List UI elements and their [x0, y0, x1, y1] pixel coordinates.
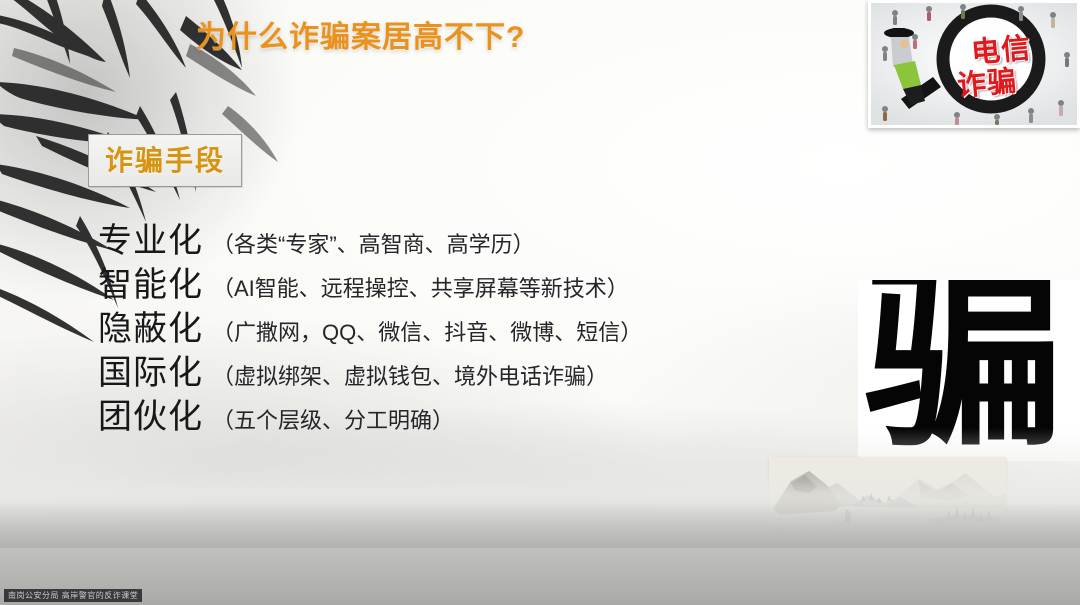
bullet-head: 团伙化: [98, 398, 203, 436]
ink-landscape-painting: [769, 457, 1006, 542]
list-item: 专业化 （各类“专家”、高智商、高学历）: [98, 222, 642, 260]
slide-title: 为什么诈骗案居高不下?: [196, 12, 525, 56]
bullet-head: 隐蔽化: [98, 310, 203, 348]
telecom-fraud-photo: 电信 诈骗: [868, 0, 1080, 128]
list-item: 智能化 （AI智能、远程操控、共享屏幕等新技术）: [98, 266, 642, 304]
capture-watermark: 南岗公安分局 高岸警官的反诈课堂: [4, 589, 142, 602]
screen-capture: 为什么诈骗案居高不下? 诈骗手段 专业化 （各类“专家”、高智商、高学历） 智能…: [0, 0, 1080, 605]
list-item: 国际化 （虚拟绑架、虚拟钱包、境外电话诈骗）: [98, 354, 642, 392]
landscape-painting-icon: [769, 457, 1006, 542]
list-item: 团伙化 （五个层级、分工明确）: [98, 398, 642, 436]
section-label: 诈骗手段: [105, 139, 225, 179]
calligraphy-character: 骗: [864, 280, 1058, 458]
section-label-box: 诈骗手段: [88, 134, 242, 187]
capture-chrome: [0, 548, 1080, 605]
bullet-tail: （AI智能、远程操控、共享屏幕等新技术）: [212, 277, 629, 302]
bullet-head: 国际化: [98, 354, 203, 392]
bullet-tail: （广撒网，QQ、微信、抖音、微博、短信）: [212, 321, 642, 346]
calligraphy-panel: 骗: [858, 280, 1080, 461]
bullet-head: 智能化: [98, 266, 203, 304]
bullet-tail: （五个层级、分工明确）: [212, 409, 454, 434]
bullet-list: 专业化 （各类“专家”、高智商、高学历） 智能化 （AI智能、远程操控、共享屏幕…: [98, 222, 642, 442]
bullet-tail: （各类“专家”、高智商、高学历）: [212, 233, 535, 258]
bullet-head: 专业化: [98, 222, 203, 260]
list-item: 隐蔽化 （广撒网，QQ、微信、抖音、微博、短信）: [98, 310, 642, 348]
presentation-slide: 为什么诈骗案居高不下? 诈骗手段 专业化 （各类“专家”、高智商、高学历） 智能…: [0, 0, 1080, 548]
photo-caption-line2: 诈骗: [955, 57, 1018, 104]
bullet-tail: （虚拟绑架、虚拟钱包、境外电话诈骗）: [212, 365, 608, 390]
